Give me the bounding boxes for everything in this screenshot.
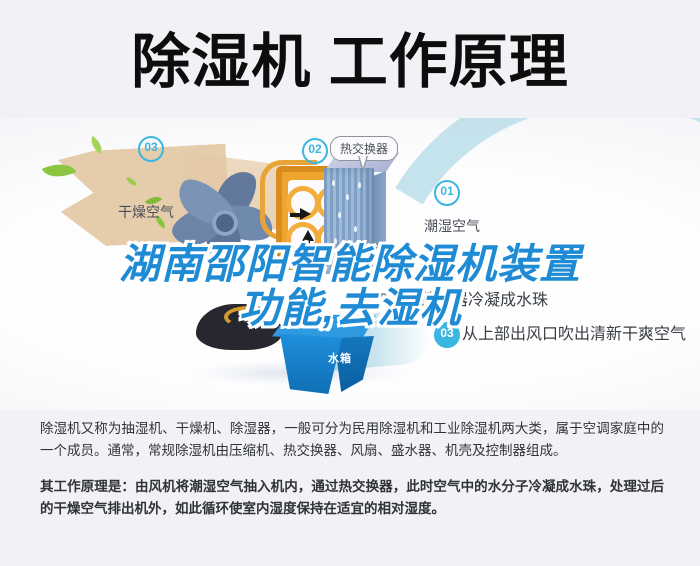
step-description-badge-03: 03 [434, 322, 460, 348]
paragraph-2: 其工作原理是：由风机将潮湿空气抽入机内，通过热交换器，此时空气中的水分子冷凝成水… [40, 476, 664, 520]
compressor-ring-icon [224, 306, 272, 328]
paragraph-1: 除湿机又称为抽湿机、干燥机、除湿器，一般可分为民用除湿机和工业除湿机两大类，属于… [40, 418, 664, 462]
callout-pointer-fill-icon [359, 155, 367, 168]
step-description-02: 气经过蒸发器冷凝成水珠 [372, 286, 548, 310]
title-band: 除湿机 工作原理 [0, 16, 700, 108]
water-drop-icon [338, 212, 341, 218]
water-tank-icon: 水箱 [272, 314, 376, 400]
page-title: 除湿机 工作原理 [0, 16, 700, 108]
dehumidifier-diagram: 水箱 01 潮湿空气 02 热交换器 03 干燥空气 气经过蒸发器冷凝成水珠 0… [0, 118, 700, 410]
step-badge-02: 02 [302, 138, 328, 164]
water-drop-icon [362, 252, 365, 258]
water-drop-icon [332, 180, 335, 186]
water-drop-icon [354, 226, 357, 232]
water-tank-label: 水箱 [312, 350, 368, 366]
step-badge-03: 03 [138, 136, 164, 162]
step-description-03: 从上部出风口吹出清新干爽空气 [462, 320, 686, 344]
article-body: 除湿机又称为抽湿机、干燥机、除湿器，一般可分为民用除湿机和工业除湿机两大类，属于… [40, 418, 664, 534]
flow-arrow-up-icon [306, 241, 310, 254]
fan-hub-icon [212, 210, 238, 236]
step-caption-01: 潮湿空气 [424, 216, 480, 236]
evaporator-fins-icon [324, 168, 374, 274]
step-caption-03: 干燥空气 [118, 202, 174, 222]
flow-arrow-right-icon [300, 208, 311, 220]
water-drop-icon [358, 182, 361, 188]
water-drop-icon [344, 260, 347, 266]
flow-arrow-up-icon [302, 230, 314, 241]
water-drop-icon [346, 194, 349, 200]
water-drop-icon [334, 238, 337, 244]
page-root: 除湿机 工作原理 [0, 0, 700, 566]
evaporator-coil-icon [324, 152, 386, 278]
step-badge-01: 01 [434, 180, 460, 206]
